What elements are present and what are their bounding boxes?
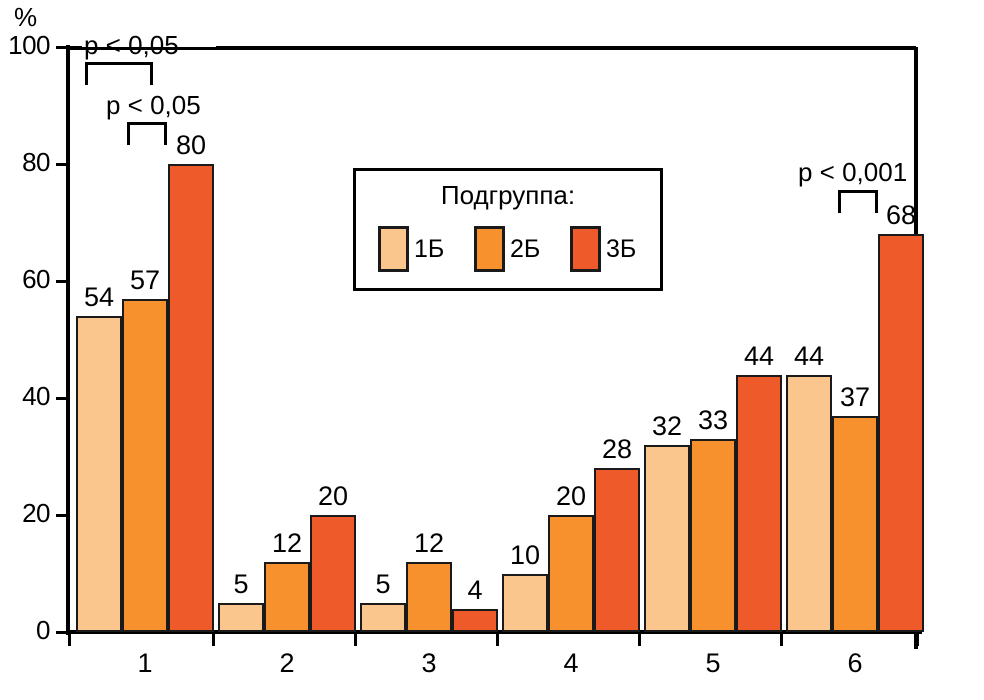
x-tick-mark — [68, 634, 71, 646]
bar — [218, 603, 264, 632]
y-axis-line — [66, 45, 70, 635]
x-tick-label: 2 — [257, 648, 317, 679]
y-tick-label: 0 — [36, 615, 50, 646]
bar — [736, 375, 782, 632]
x-tick-mark — [212, 634, 215, 646]
sig-bracket-1 — [85, 62, 153, 85]
x-tick-mark — [780, 634, 783, 646]
bar — [690, 439, 736, 632]
bar — [878, 234, 924, 632]
sig-rule-right-1 — [216, 46, 916, 49]
bar — [548, 515, 594, 632]
legend-item-3Б: 3Б — [570, 226, 636, 272]
y-tick-mark — [56, 514, 68, 517]
bar-value-label: 20 — [298, 481, 368, 512]
chart-canvas: % 100806040200 5457805122051241020283233… — [0, 0, 984, 700]
x-tick-mark — [496, 634, 499, 646]
legend-swatch — [570, 226, 601, 272]
bar-value-label: 4 — [440, 575, 510, 606]
legend-label: 1Б — [414, 235, 444, 264]
y-tick-mark — [56, 631, 68, 634]
x-tick-mark — [354, 634, 357, 646]
x-tick-label: 4 — [541, 648, 601, 679]
bar — [644, 445, 690, 632]
bar — [168, 164, 214, 632]
x-tick-mark — [638, 634, 641, 646]
y-tick-label: 60 — [22, 264, 50, 295]
y-tick-label: 80 — [22, 147, 50, 178]
bar — [122, 299, 168, 632]
legend-item-1Б: 1Б — [378, 226, 444, 272]
bar — [360, 603, 406, 632]
legend-title: Подгруппа: — [356, 180, 660, 211]
y-tick-mark — [56, 46, 68, 49]
y-tick-mark — [56, 163, 68, 166]
bar — [264, 562, 310, 632]
bar — [832, 416, 878, 632]
legend-label: 3Б — [606, 235, 636, 264]
sig-label-2: p < 0,05 — [106, 90, 201, 121]
legend: Подгруппа: 1Б2Б3Б — [353, 168, 663, 291]
y-tick-mark — [56, 397, 68, 400]
sig-rule-left-1 — [68, 46, 82, 49]
bar-value-label: 12 — [394, 528, 464, 559]
legend-label: 2Б — [510, 235, 540, 264]
y-tick-label: 20 — [22, 498, 50, 529]
bar — [452, 609, 498, 632]
bar — [76, 316, 122, 632]
legend-item-2Б: 2Б — [474, 226, 540, 272]
x-tick-label: 1 — [115, 648, 175, 679]
x-tick-mark — [916, 634, 919, 646]
bar — [502, 574, 548, 633]
sig-bracket-3 — [838, 190, 878, 213]
sig-label-1: p < 0,05 — [84, 30, 179, 61]
x-tick-label: 5 — [683, 648, 743, 679]
sig-bracket-2 — [127, 122, 167, 145]
y-axis-unit-label: % — [14, 2, 37, 33]
bar-value-label: 44 — [774, 341, 844, 372]
legend-swatch — [474, 226, 505, 272]
sig-label-3: p < 0,001 — [798, 157, 907, 188]
legend-swatch — [378, 226, 409, 272]
y-tick-label: 40 — [22, 381, 50, 412]
x-tick-label: 6 — [825, 648, 885, 679]
x-tick-label: 3 — [399, 648, 459, 679]
bar — [594, 468, 640, 632]
bar — [786, 375, 832, 632]
y-tick-label: 100 — [8, 30, 50, 61]
